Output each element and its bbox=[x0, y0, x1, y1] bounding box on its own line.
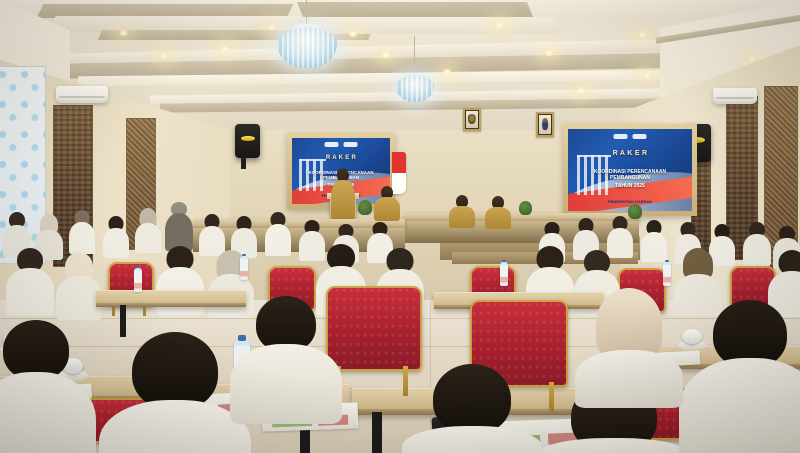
audience-person bbox=[744, 222, 770, 264]
air-conditioner bbox=[56, 86, 108, 103]
garuda-emblem-frame bbox=[463, 108, 481, 131]
downlight bbox=[746, 56, 758, 62]
chandelier bbox=[396, 76, 434, 104]
audience-person bbox=[8, 248, 52, 312]
banquet-chair bbox=[108, 262, 150, 316]
slide-logos-right bbox=[614, 134, 647, 139]
slide-title-left: R A K E R bbox=[298, 155, 384, 161]
slide-year-right: TAHUN 2025 bbox=[575, 183, 684, 189]
slide-footer-right: PEMERINTAH DAERAH bbox=[580, 199, 679, 204]
potted-plant bbox=[358, 200, 372, 215]
downlight bbox=[380, 52, 392, 58]
audience-person bbox=[136, 208, 160, 250]
audience-person bbox=[70, 210, 94, 252]
audience-person bbox=[642, 220, 666, 260]
audience-person-foreground bbox=[582, 288, 676, 394]
downlight bbox=[493, 22, 506, 28]
head-table-skirt bbox=[404, 221, 639, 243]
audience-person bbox=[166, 202, 192, 250]
downlight bbox=[219, 46, 231, 52]
audience-person-foreground bbox=[238, 296, 334, 408]
downlight bbox=[441, 69, 453, 75]
slide-right: R A K E R KOORDINASI PERENCANAAN PEMBANG… bbox=[568, 129, 692, 211]
air-conditioner bbox=[713, 88, 757, 104]
seminar-photo: R A K E R KOORDINASI PERENCANAAN PEMBANG… bbox=[0, 0, 800, 453]
downlight bbox=[641, 72, 653, 78]
downlight bbox=[543, 50, 555, 56]
water-bottle bbox=[240, 256, 248, 280]
chandelier bbox=[277, 28, 337, 72]
podium-speaker bbox=[330, 168, 356, 224]
wall-speaker bbox=[235, 124, 260, 158]
audience-person-foreground bbox=[690, 300, 800, 453]
official-portrait-frame bbox=[536, 112, 554, 137]
audience-person-foreground bbox=[0, 320, 88, 453]
water-bottle bbox=[134, 268, 142, 292]
audience-person bbox=[266, 212, 290, 254]
downlight bbox=[575, 88, 587, 94]
audience-table bbox=[96, 290, 246, 307]
potted-plant bbox=[519, 201, 532, 215]
audience-person-foreground bbox=[110, 332, 240, 453]
slide-subtitle-right: KOORDINASI PERENCANAAN PEMBANGUNAN bbox=[575, 170, 684, 181]
slide-title-right: R A K E R bbox=[575, 150, 684, 158]
audience-person bbox=[58, 252, 100, 314]
downlight bbox=[117, 30, 130, 36]
official-seated bbox=[485, 196, 511, 228]
slide-logos-left bbox=[325, 142, 358, 147]
audience-person bbox=[200, 214, 224, 254]
water-bottle bbox=[500, 262, 508, 286]
water-bottle bbox=[663, 262, 671, 286]
projection-screen-right: R A K E R KOORDINASI PERENCANAAN PEMBANG… bbox=[563, 124, 697, 216]
audience-person-foreground bbox=[412, 364, 532, 453]
official-seated bbox=[449, 195, 475, 227]
downlight bbox=[158, 53, 171, 59]
audience-person bbox=[104, 216, 128, 256]
official-seated bbox=[374, 186, 400, 220]
downlight bbox=[636, 32, 649, 38]
downlight bbox=[347, 31, 359, 37]
